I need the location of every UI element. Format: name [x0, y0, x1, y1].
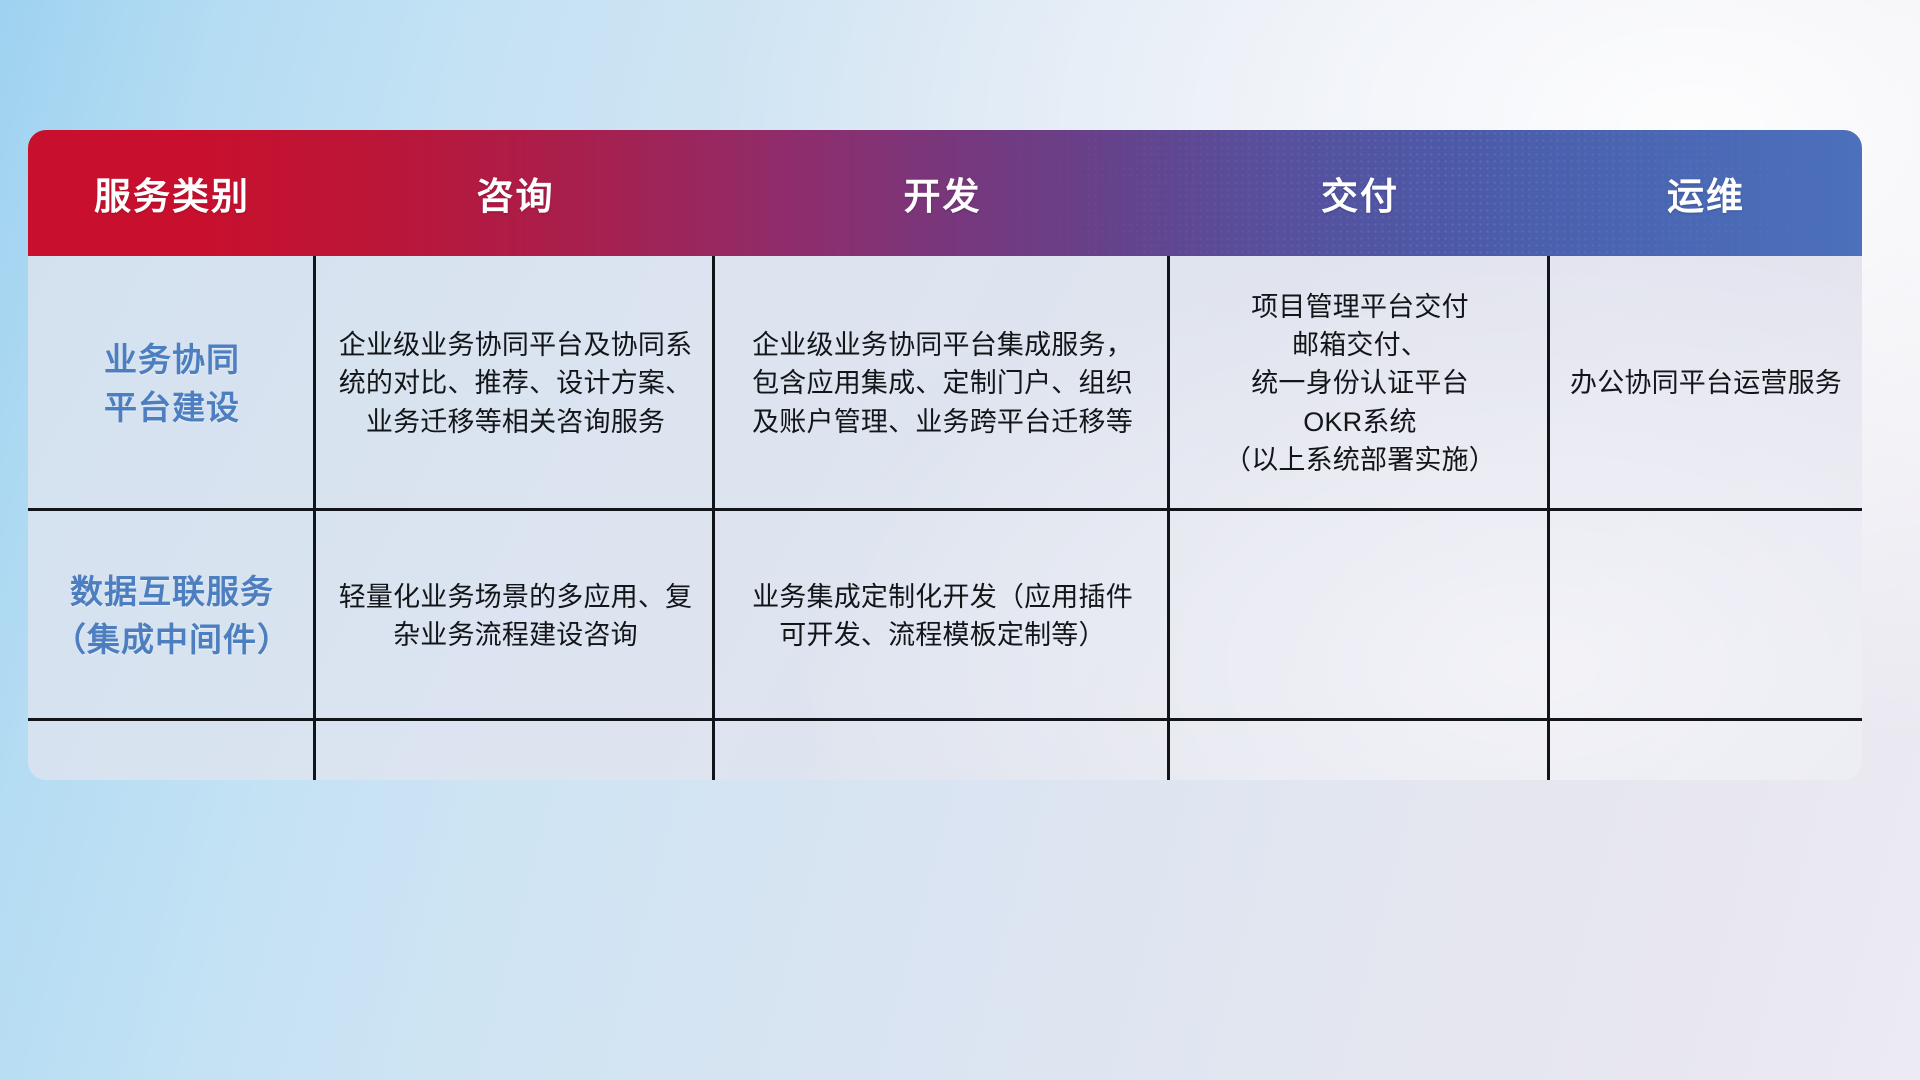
cell-text: 企业级业务协同平台及协同系 统的对比、推荐、设计方案、 业务迁移等相关咨询服务	[339, 326, 693, 441]
cell-operations: 办公协同平台运营服务	[1550, 256, 1862, 511]
cell-delivery: 项目管理平台交付 邮箱交付、 统一身份认证平台 OKR系统 （以上系统部署实施）	[1170, 256, 1550, 511]
category-label: 数据互联服务 （集成中间件）	[53, 568, 291, 664]
cell-development: 企业级业务协同平台集成服务， 包含应用集成、定制门户、组织 及账户管理、业务跨平…	[715, 256, 1170, 511]
cell-consulting: 低代码平台推荐及咨询	[316, 721, 715, 780]
table-body: 业务协同 平台建设 企业级业务协同平台及协同系 统的对比、推荐、设计方案、 业务…	[28, 256, 1862, 780]
cell-operations	[1550, 721, 1862, 780]
cell-development: 业务集成定制化开发（应用插件 可开发、流程模板定制等）	[715, 511, 1170, 721]
table-header-row: 服务类别 咨询 开发 交付 运维	[28, 130, 1862, 256]
cell-consulting: 轻量化业务场景的多应用、复 杂业务流程建设咨询	[316, 511, 715, 721]
table-row: 业务协同 平台建设 企业级业务协同平台及协同系 统的对比、推荐、设计方案、 业务…	[28, 256, 1862, 511]
column-header-delivery: 交付	[1170, 166, 1550, 220]
cell-consulting: 企业级业务协同平台及协同系 统的对比、推荐、设计方案、 业务迁移等相关咨询服务	[316, 256, 715, 511]
category-label: 业务协同 平台建设	[104, 336, 240, 432]
cell-delivery: 应用分发及管理	[1170, 721, 1550, 780]
cell-text: 企业级业务协同平台集成服务， 包含应用集成、定制门户、组织 及账户管理、业务跨平…	[752, 326, 1133, 441]
cell-category: 数据互联服务 （集成中间件）	[28, 511, 316, 721]
cell-text: 业务集成定制化开发（应用插件 可开发、流程模板定制等）	[752, 578, 1133, 655]
column-header-operations: 运维	[1550, 166, 1862, 220]
table-row: 数据互联服务 （集成中间件） 轻量化业务场景的多应用、复 杂业务流程建设咨询 业…	[28, 511, 1862, 721]
cell-text: 项目管理平台交付 邮箱交付、 统一身份认证平台 OKR系统 （以上系统部署实施）	[1224, 288, 1496, 480]
cell-text: 办公协同平台运营服务	[1570, 364, 1842, 402]
table-row: 应用定制 低代码平台推荐及咨询 基于低代码开发平台的微应用定 制开发； 基于通过…	[28, 721, 1862, 780]
cell-development: 基于低代码开发平台的微应用定 制开发； 基于通过语言的微应用定制开发	[715, 721, 1170, 780]
column-header-development: 开发	[715, 166, 1170, 220]
cell-text: 轻量化业务场景的多应用、复 杂业务流程建设咨询	[339, 578, 693, 655]
cell-delivery	[1170, 511, 1550, 721]
cell-category: 应用定制	[28, 721, 316, 780]
service-matrix-table: 服务类别 咨询 开发 交付 运维 业务协同 平台建设 企业级业务协同平台及协同系…	[28, 130, 1862, 780]
cell-category: 业务协同 平台建设	[28, 256, 316, 511]
column-header-consulting: 咨询	[316, 166, 715, 220]
cell-operations	[1550, 511, 1862, 721]
column-header-category: 服务类别	[28, 166, 316, 220]
